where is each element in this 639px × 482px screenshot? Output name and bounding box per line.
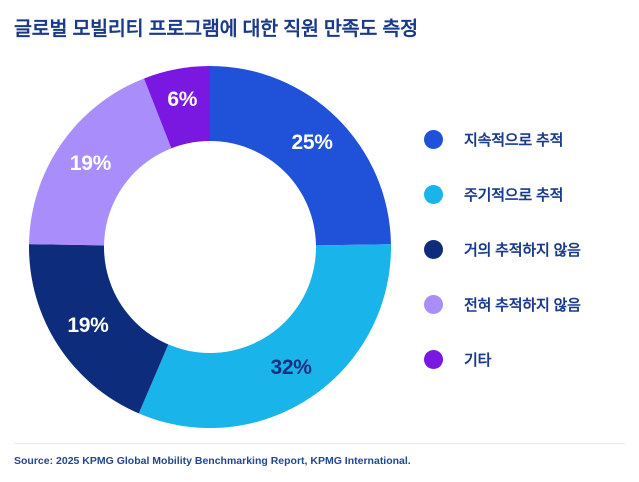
legend-item[interactable]: 기타 bbox=[424, 332, 636, 387]
legend-item[interactable]: 지속적으로 추적 bbox=[424, 112, 636, 167]
source-note: Source: 2025 KPMG Global Mobility Benchm… bbox=[14, 455, 411, 467]
legend-item-label: 거의 추적하지 않음 bbox=[464, 239, 581, 260]
page-title: 글로벌 모빌리티 프로그램에 대한 직원 만족도 측정 bbox=[14, 12, 614, 41]
footer-divider bbox=[14, 443, 625, 444]
donut-slice-label: 6% bbox=[167, 88, 197, 112]
donut-hole bbox=[104, 141, 316, 353]
donut-chart-svg bbox=[26, 63, 394, 431]
legend-item-label: 주기적으로 추적 bbox=[464, 184, 563, 205]
donut-slice-label: 19% bbox=[67, 314, 108, 338]
donut-chart: 25%32%19%19%6% bbox=[26, 63, 394, 431]
legend-item-label: 지속적으로 추적 bbox=[464, 129, 563, 150]
legend-item[interactable]: 전혀 추적하지 않음 bbox=[424, 277, 636, 332]
chart-page: 글로벌 모빌리티 프로그램에 대한 직원 만족도 측정 25%32%19%19%… bbox=[0, 0, 639, 482]
legend-item-label: 전혀 추적하지 않음 bbox=[464, 294, 581, 315]
donut-slice-label: 19% bbox=[70, 152, 111, 176]
chart-legend: 지속적으로 추적주기적으로 추적거의 추적하지 않음전혀 추적하지 않음기타 bbox=[424, 112, 636, 387]
legend-swatch-icon bbox=[424, 130, 443, 149]
legend-swatch-icon bbox=[424, 240, 443, 259]
donut-slice-label: 25% bbox=[292, 131, 333, 155]
legend-item[interactable]: 거의 추적하지 않음 bbox=[424, 222, 636, 277]
donut-slice-label: 32% bbox=[271, 356, 312, 380]
legend-swatch-icon bbox=[424, 295, 443, 314]
legend-item-label: 기타 bbox=[464, 349, 491, 370]
legend-swatch-icon bbox=[424, 350, 443, 369]
legend-swatch-icon bbox=[424, 185, 443, 204]
legend-item[interactable]: 주기적으로 추적 bbox=[424, 167, 636, 222]
